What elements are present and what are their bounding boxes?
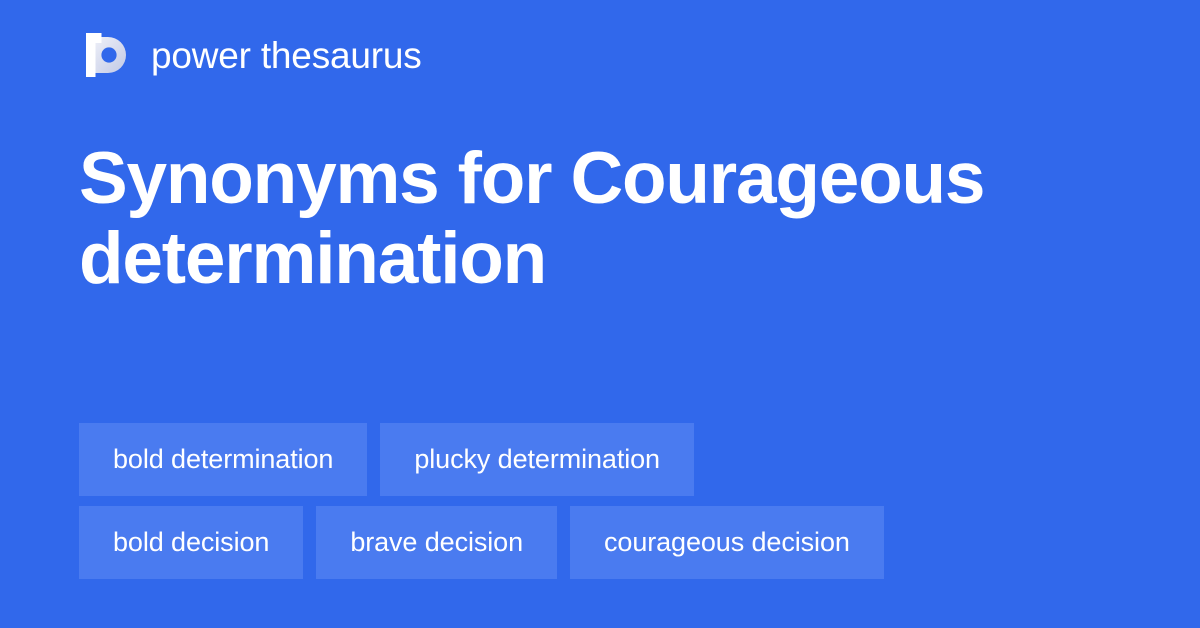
synonym-chip[interactable]: courageous decision bbox=[570, 506, 884, 579]
brand-header[interactable]: power thesaurus bbox=[79, 29, 422, 81]
page-title: Synonyms for Courageous determination bbox=[79, 139, 1139, 298]
synonym-chip-row: bold decision brave decision courageous … bbox=[79, 506, 884, 579]
synonym-chip[interactable]: plucky determination bbox=[380, 423, 694, 496]
synonym-chip[interactable]: brave decision bbox=[316, 506, 557, 579]
page-title-line-1: Synonyms for Courageous bbox=[79, 139, 1139, 219]
synonym-chip[interactable]: bold decision bbox=[79, 506, 303, 579]
page-title-line-2: determination bbox=[79, 219, 1139, 299]
power-thesaurus-b-logo-icon bbox=[79, 29, 131, 81]
synonym-chip-row: bold determination plucky determination bbox=[79, 423, 694, 496]
synonym-chip-list: bold determination plucky determination … bbox=[79, 423, 1129, 579]
synonym-chip[interactable]: bold determination bbox=[79, 423, 367, 496]
brand-name: power thesaurus bbox=[151, 37, 422, 74]
page-root: power thesaurus Synonyms for Courageous … bbox=[0, 0, 1200, 628]
